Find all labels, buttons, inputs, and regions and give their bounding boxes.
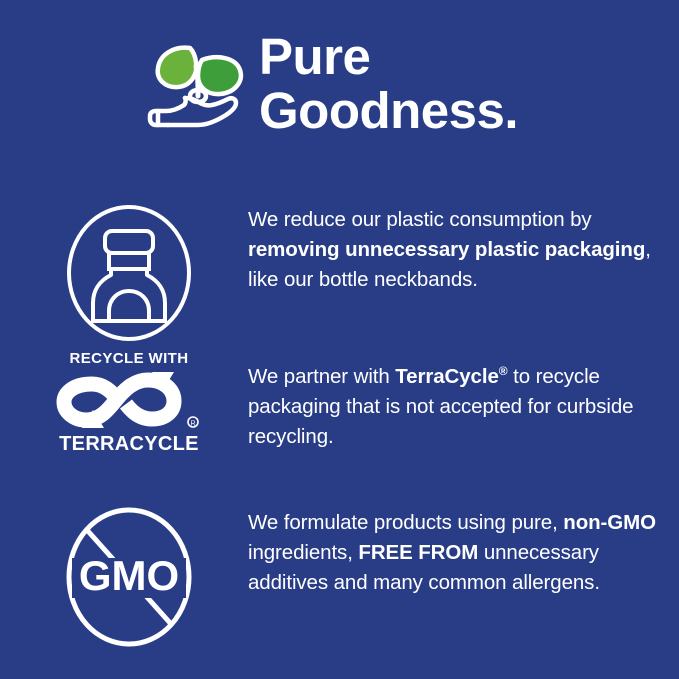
benefit-row-plastic: We reduce our plastic consumption by rem… [0,195,679,335]
terracycle-recycle-icon: RECYCLE WITH R TERRACYC [54,350,204,455]
benefit-icon-cell [0,195,248,343]
no-gmo-icon-label: GMO [79,552,179,599]
hand-holding-sprout-icon [146,32,251,137]
benefit-text-segment: We reduce our plastic consumption by [248,208,592,231]
pure-goodness-infographic: Pure Goodness. We reduce our plastic c [0,0,679,679]
benefit-text-plastic: We reduce our plastic consumption by rem… [248,195,679,295]
benefit-text-emphasis: non-GMO [563,511,656,534]
svg-text:R: R [190,421,195,428]
page-title: Pure Goodness. [259,28,518,138]
benefit-text-segment: We partner with [248,365,395,388]
benefit-text-segment: ingredients, [248,541,358,564]
benefit-text-emphasis: removing unnecessary plastic packaging [248,238,645,261]
terracycle-infinity-mark: R [54,370,204,432]
benefit-text-emphasis: FREE FROM [358,541,478,564]
bottle-neckband-icon [65,203,193,343]
benefit-row-gmo: GMO We formulate products using pure, no… [0,498,679,648]
benefit-text-terracycle: We partner with TerraCycle® to recycle p… [248,348,679,452]
benefit-text-gmo: We formulate products using pure, non-GM… [248,498,679,598]
benefit-text-segment: We formulate products using pure, [248,511,563,534]
benefit-icon-cell: GMO [0,498,248,648]
terracycle-logo-bottom-label: TERRACYCLE [54,433,204,455]
no-gmo-icon: GMO [64,506,194,648]
header: Pure Goodness. [0,28,679,153]
registered-trademark-symbol: ® [499,364,508,378]
benefit-text-emphasis: TerraCycle [395,365,498,388]
benefit-row-terracycle: RECYCLE WITH R TERRACYC [0,348,679,478]
benefit-icon-cell: RECYCLE WITH R TERRACYC [0,348,248,455]
terracycle-logo-top-label: RECYCLE WITH [54,350,204,367]
